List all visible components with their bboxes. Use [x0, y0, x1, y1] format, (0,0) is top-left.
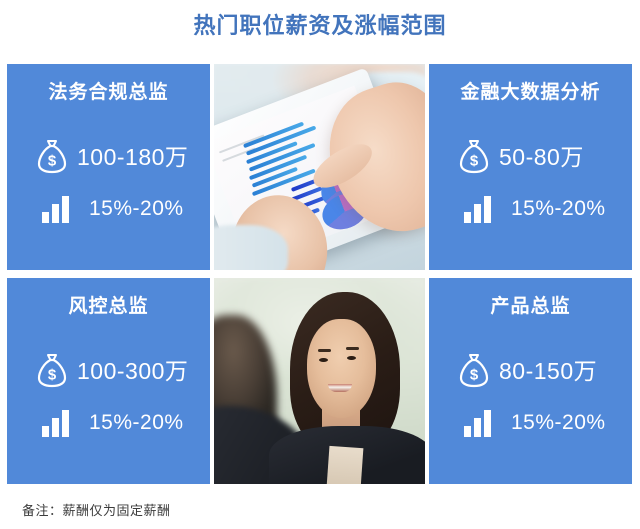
card-risk-control-director[interactable]: 风控总监 $ 100-300万 [7, 278, 210, 484]
salary-row: $ 80-150万 [429, 350, 632, 392]
svg-text:$: $ [48, 153, 57, 170]
money-bag-icon: $ [455, 350, 493, 392]
growth-row: 15%-20% [429, 406, 632, 440]
bar-chart-icon [39, 406, 73, 440]
money-bag-icon: $ [33, 136, 71, 178]
card-legal-compliance-director[interactable]: 法务合规总监 $ 100-180万 [7, 64, 210, 270]
card-title: 金融大数据分析 [429, 78, 632, 108]
bar-chart-icon [461, 406, 495, 440]
svg-text:$: $ [470, 367, 479, 384]
salary-row: $ 100-180万 [7, 136, 210, 178]
card-title: 产品总监 [429, 292, 632, 322]
tablet-charts-photo [214, 64, 425, 270]
bar-chart-icon [461, 192, 495, 226]
blouse-shape [327, 446, 364, 484]
sleeve-shape [214, 225, 288, 270]
growth-row: 15%-20% [429, 192, 632, 226]
svg-text:$: $ [48, 367, 57, 384]
bar-chart-icon [39, 192, 73, 226]
businesswoman-photo [214, 278, 425, 484]
growth-value: 15%-20% [89, 408, 184, 438]
card-title: 法务合规总监 [7, 78, 210, 108]
salary-value: 80-150万 [499, 356, 597, 386]
money-bag-icon: $ [33, 350, 71, 392]
cards-grid: 法务合规总监 $ 100-180万 [7, 64, 633, 484]
infographic-root: 热门职位薪资及涨幅范围 法务合规总监 $ 100-180万 [0, 0, 640, 529]
card-title: 风控总监 [7, 292, 210, 322]
salary-value: 50-80万 [499, 142, 584, 172]
growth-row: 15%-20% [7, 192, 210, 226]
svg-text:$: $ [470, 153, 479, 170]
salary-row: $ 100-300万 [7, 350, 210, 392]
salary-value: 100-180万 [77, 142, 188, 172]
card-product-director[interactable]: 产品总监 $ 80-150万 [429, 278, 632, 484]
card-financial-bigdata-analysis[interactable]: 金融大数据分析 $ 50-80万 [429, 64, 632, 270]
growth-value: 15%-20% [89, 194, 184, 224]
growth-value: 15%-20% [511, 194, 606, 224]
money-bag-icon: $ [455, 136, 493, 178]
face-shape [307, 319, 377, 418]
growth-row: 15%-20% [7, 406, 210, 440]
growth-value: 15%-20% [511, 408, 606, 438]
salary-value: 100-300万 [77, 356, 188, 386]
salary-row: $ 50-80万 [429, 136, 632, 178]
footnote: 备注：薪酬仅为固定薪酬 [22, 500, 171, 519]
page-title: 热门职位薪资及涨幅范围 [0, 10, 640, 42]
